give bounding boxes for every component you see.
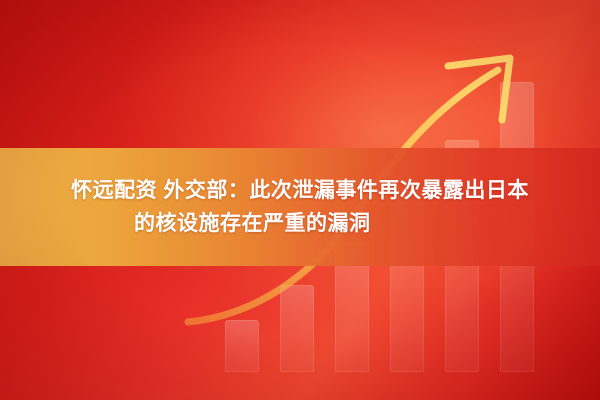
chart-bar [225, 320, 259, 372]
headline-line-2: 的核设施存在严重的漏洞 [134, 207, 371, 240]
headline-line-1: 怀远配资 外交部：此次泄漏事件再次暴露出日本 [71, 174, 529, 207]
chart-bar [280, 285, 314, 372]
headline-container: 怀远配资 外交部：此次泄漏事件再次暴露出日本 的核设施存在严重的漏洞 [0, 148, 600, 266]
promo-banner-image: 怀远配资 外交部：此次泄漏事件再次暴露出日本 的核设施存在严重的漏洞 [0, 0, 600, 400]
